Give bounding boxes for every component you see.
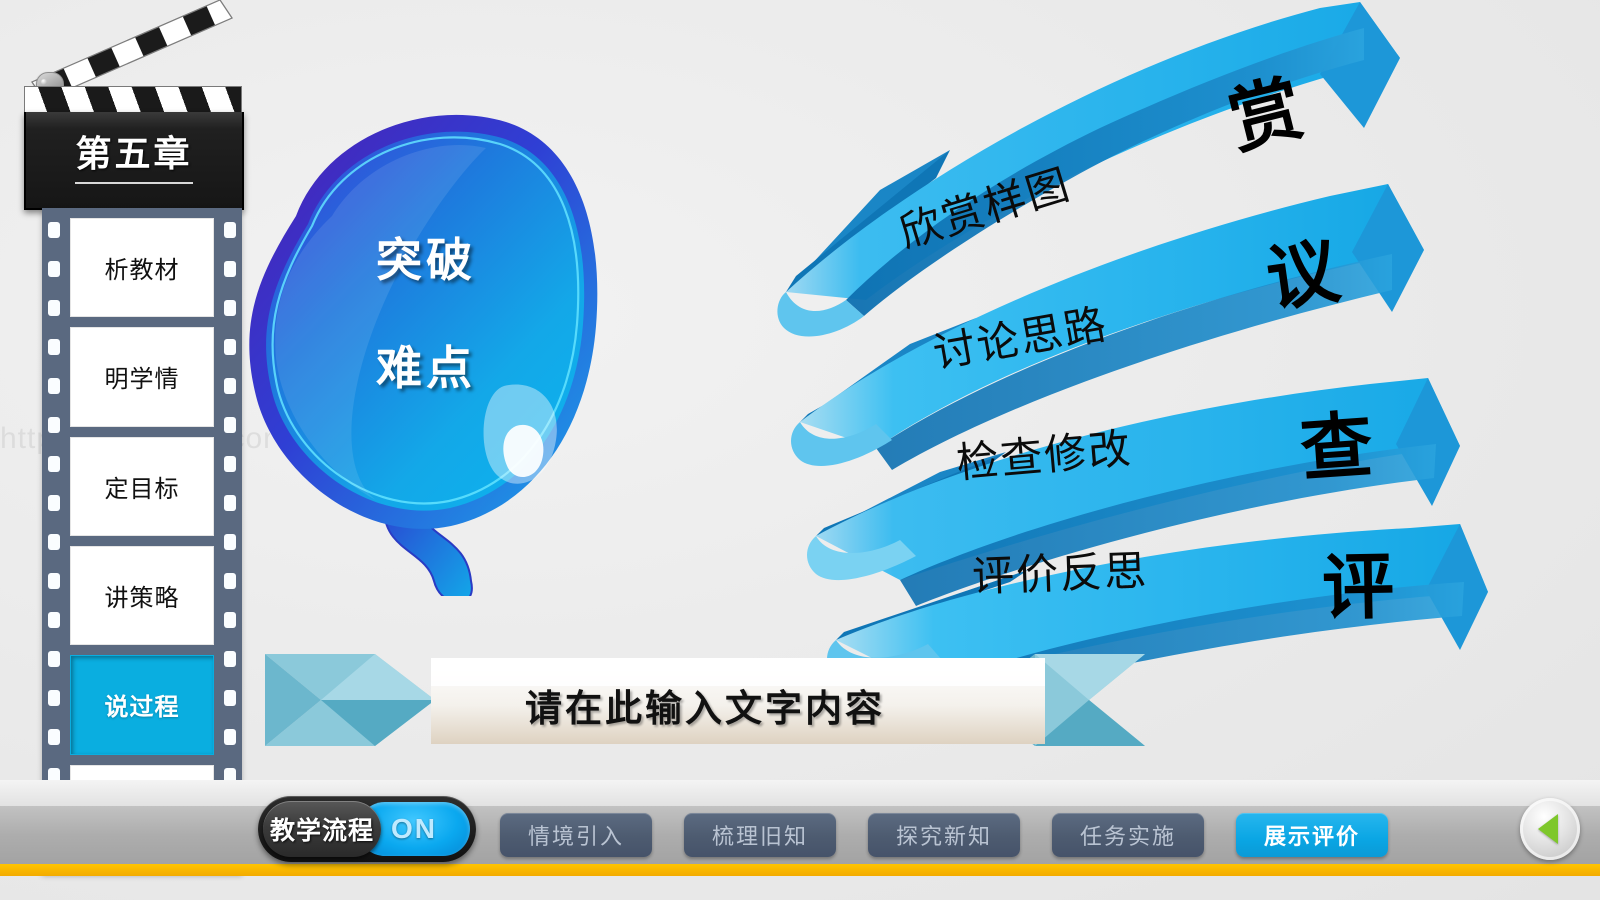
filmstrip-perforation — [48, 690, 60, 706]
teaching-step-list: 情境引入梳理旧知探究新知任务实施展示评价 — [500, 806, 1510, 864]
filmstrip-sidebar: 第五章 析教材明学情定目标讲策略说过程谈反思 — [18, 0, 238, 880]
toggle-on-label: ON — [391, 813, 437, 845]
taskbar-step-3[interactable]: 任务实施 — [1052, 813, 1204, 857]
filmstrip-perforation — [224, 651, 236, 667]
filmstrip-item-label: 定目标 — [105, 469, 180, 504]
filmstrip-perforation — [48, 534, 60, 550]
filmstrip-perforation — [48, 495, 60, 511]
taskbar-step-label: 探究新知 — [896, 819, 992, 851]
text-banner[interactable]: 请在此输入文字内容 — [255, 640, 1155, 770]
ribbon-group: 欣赏样图 讨论思路 检查修改 评价反思 赏 议 查 评 — [760, 0, 1600, 680]
filmstrip-perforation — [48, 261, 60, 277]
filmstrip-perforation — [224, 222, 236, 238]
filmstrip-perforation — [224, 378, 236, 394]
filmstrip-perforation — [48, 300, 60, 316]
filmstrip-item-label: 说过程 — [105, 687, 180, 722]
taskbar-step-label: 梳理旧知 — [712, 819, 808, 851]
filmstrip-item-label: 析教材 — [105, 250, 180, 285]
filmstrip-perforation — [48, 573, 60, 589]
filmstrip-perforation — [48, 651, 60, 667]
taskbar-step-label: 展示评价 — [1264, 819, 1360, 851]
filmstrip-item-label: 讲策略 — [105, 578, 180, 613]
filmstrip-perforation — [48, 417, 60, 433]
highlight-blob[interactable]: 突破 难点 — [236, 96, 616, 596]
toggle-knob[interactable]: 教学流程 — [263, 801, 381, 857]
banner-label: 请在此输入文字内容 — [425, 640, 985, 770]
filmstrip-item-3[interactable]: 讲策略 — [70, 546, 214, 645]
filmstrip-item-4[interactable]: 说过程 — [70, 655, 214, 754]
filmstrip-perforation — [224, 417, 236, 433]
filmstrip-perforation — [224, 690, 236, 706]
filmstrip-perforation — [48, 222, 60, 238]
ribbon-big-3: 查 — [1296, 386, 1375, 496]
filmstrip-item-1[interactable]: 明学情 — [70, 327, 214, 426]
ribbon-big-4: 评 — [1321, 527, 1395, 633]
filmstrip-perforation — [224, 573, 236, 589]
filmstrip-perforation — [224, 495, 236, 511]
taskbar-step-label: 任务实施 — [1080, 819, 1176, 851]
filmstrip-perforation — [48, 339, 60, 355]
filmstrip-item-label: 明学情 — [105, 359, 180, 394]
filmstrip-body: 析教材明学情定目标讲策略说过程谈反思 — [42, 208, 242, 874]
filmstrip-perforation — [224, 456, 236, 472]
toggle-label: 教学流程 — [270, 811, 374, 847]
taskbar-step-0[interactable]: 情境引入 — [500, 813, 652, 857]
slide-canvas: http://www.pppt.com/ppt2 — [0, 0, 1600, 900]
title-underline — [75, 182, 193, 184]
filmstrip-perforation — [224, 729, 236, 745]
page-title: 第五章 — [75, 136, 192, 172]
filmstrip-perforation — [224, 612, 236, 628]
filmstrip-item-0[interactable]: 析教材 — [70, 218, 214, 317]
taskbar-step-1[interactable]: 梳理旧知 — [684, 813, 836, 857]
chapter-title-plate: 第五章 — [24, 112, 244, 210]
filmstrip-perforation — [48, 378, 60, 394]
filmstrip-item-2[interactable]: 定目标 — [70, 437, 214, 536]
flow-toggle[interactable]: ON 教学流程 — [258, 796, 476, 862]
taskbar-step-2[interactable]: 探究新知 — [868, 813, 1020, 857]
filmstrip-perforation — [48, 729, 60, 745]
taskbar-step-label: 情境引入 — [528, 819, 624, 851]
filmstrip-perforation — [224, 534, 236, 550]
filmstrip-frame-list: 析教材明学情定目标讲策略说过程谈反思 — [70, 218, 214, 864]
ribbon-label-4: 评价反思 — [971, 537, 1149, 604]
filmstrip-perforation — [224, 339, 236, 355]
taskbar-step-4[interactable]: 展示评价 — [1236, 813, 1388, 857]
filmstrip-perforation — [224, 300, 236, 316]
filmstrip-perforation — [224, 261, 236, 277]
back-button[interactable] — [1520, 798, 1580, 860]
taskbar-shine — [0, 780, 1600, 806]
taskbar-accent-bar — [0, 864, 1600, 876]
ribbon-big-2: 议 — [1259, 211, 1345, 325]
back-arrow-icon — [1538, 814, 1558, 844]
filmstrip-perforation — [48, 612, 60, 628]
filmstrip-perforation — [48, 456, 60, 472]
